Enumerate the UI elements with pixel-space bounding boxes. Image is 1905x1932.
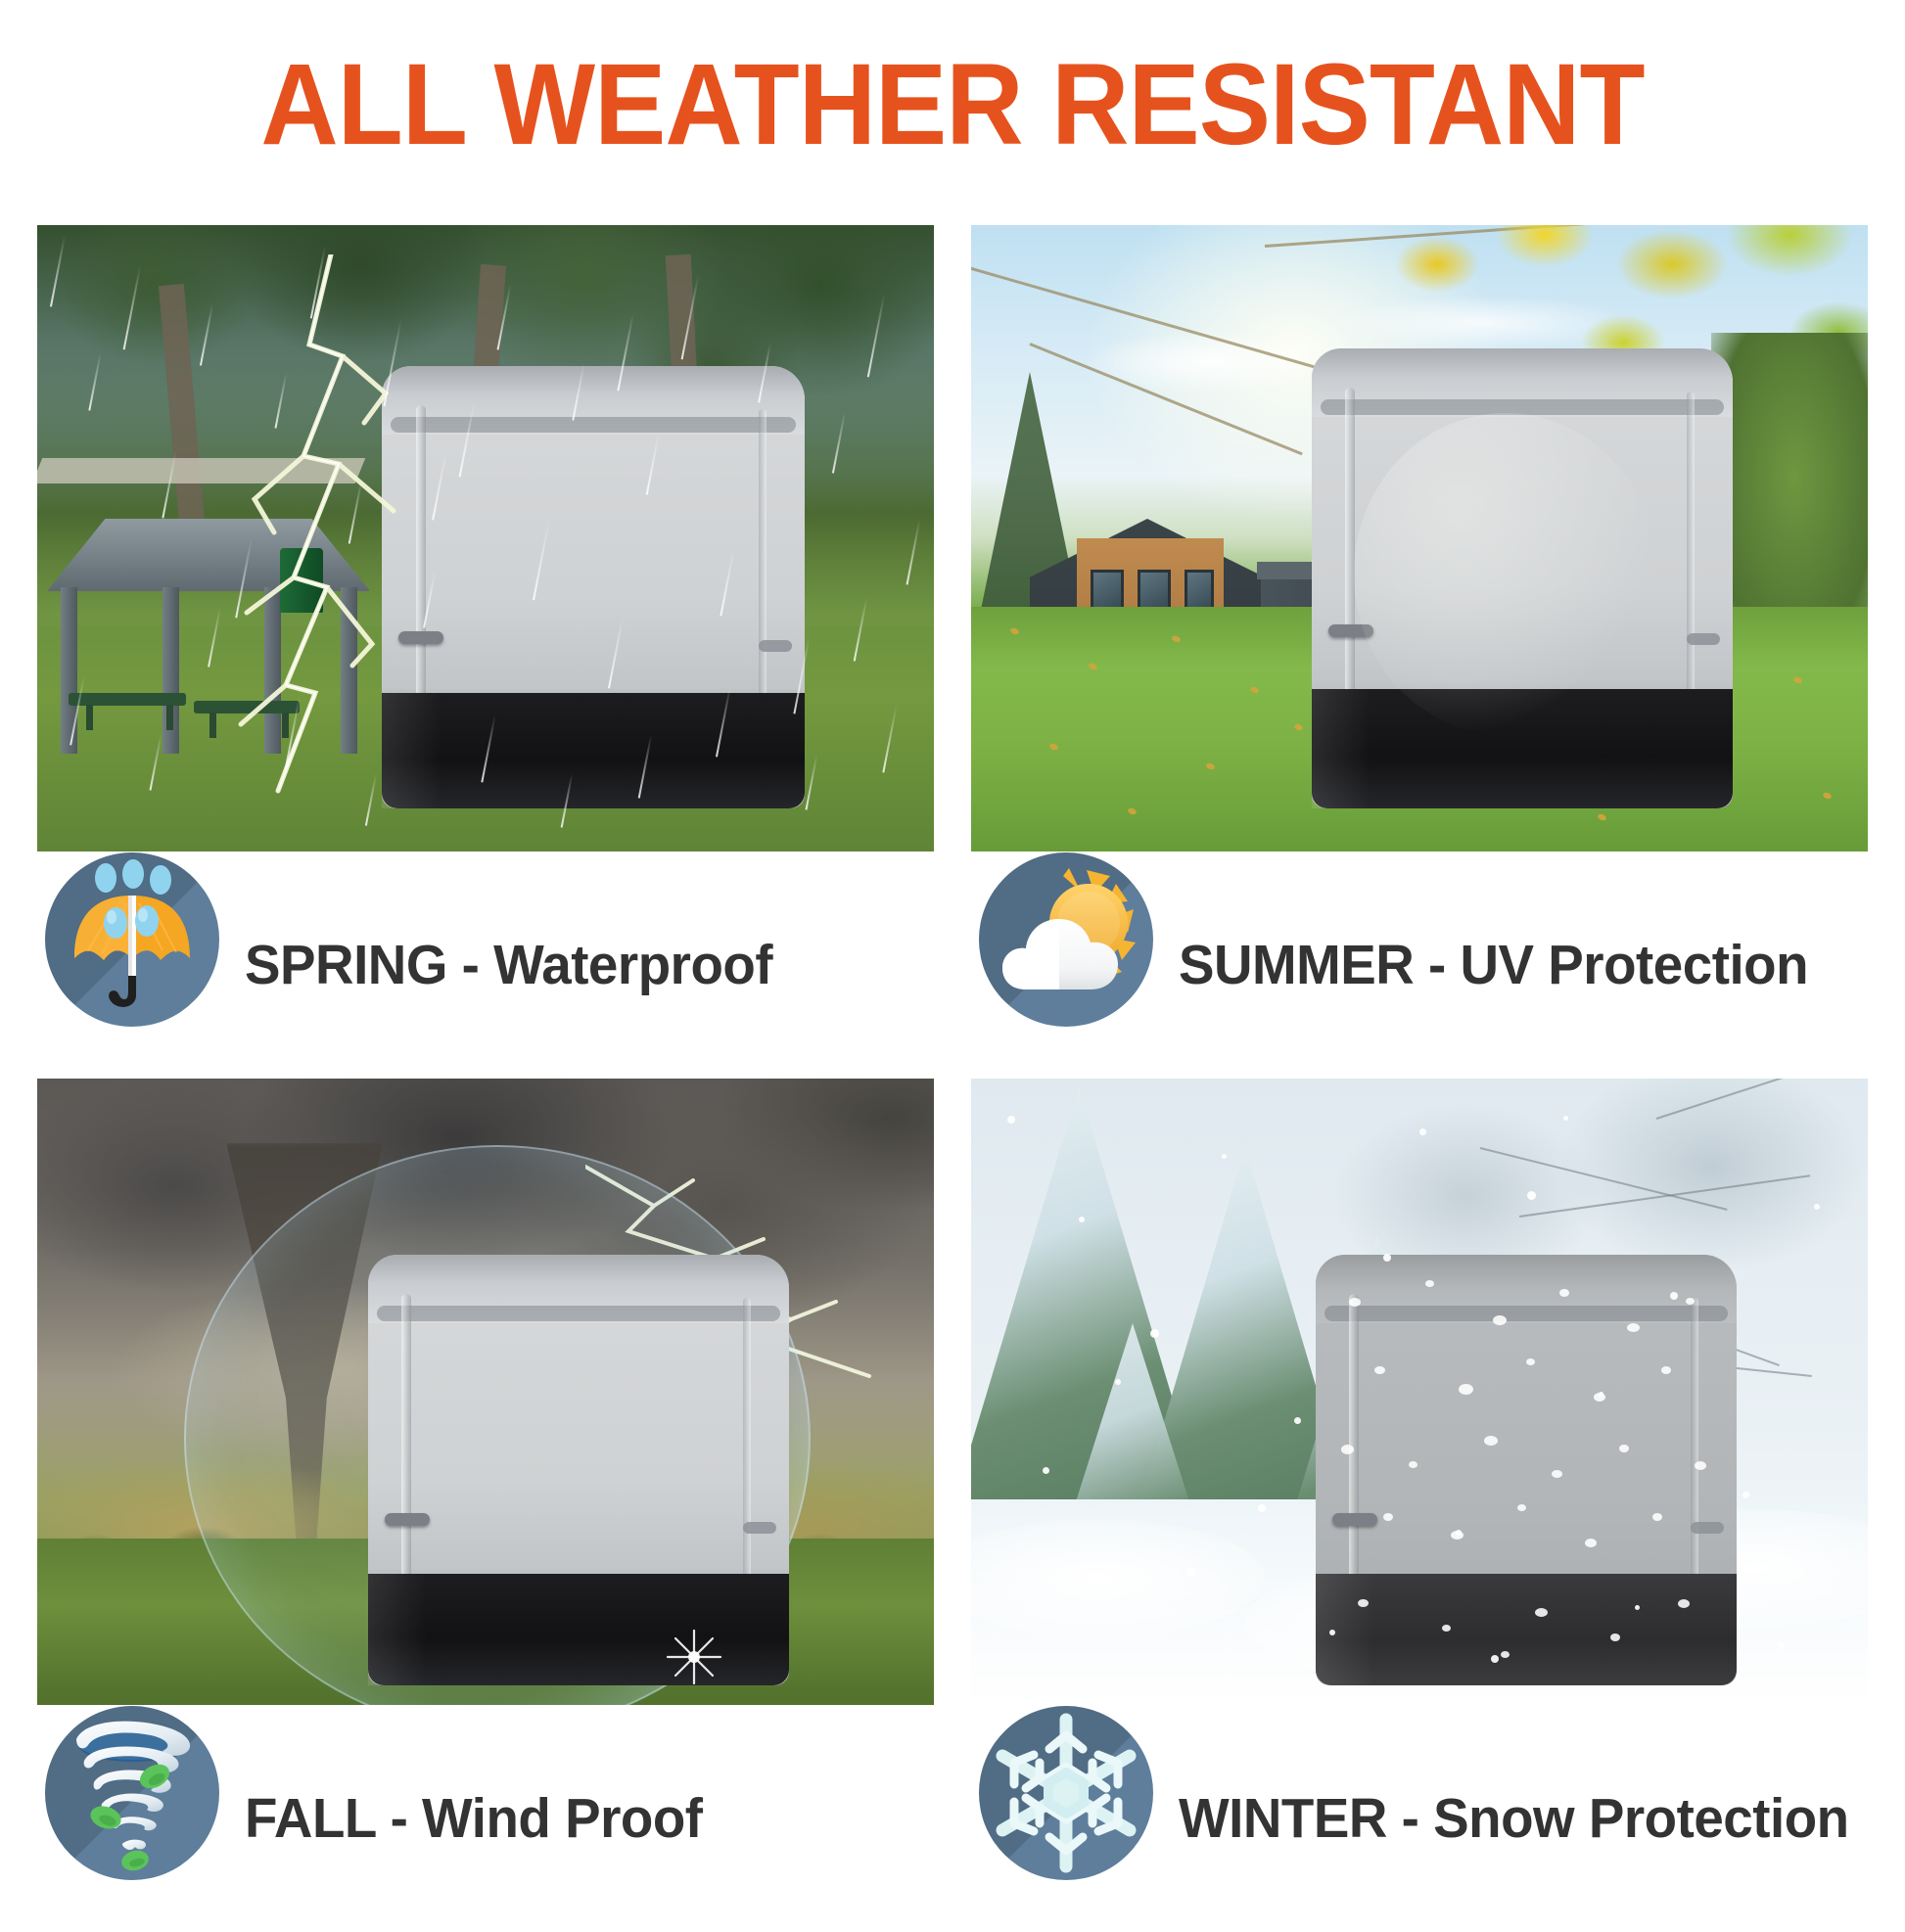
caption-summer: SUMMER - UV Protection [1179,933,1808,997]
label-row-fall: FALL - Wind Proof [37,1705,934,1932]
snowflake-icon [979,1706,1153,1880]
scene-summer-sun [971,225,1868,851]
grill-cover-product [1312,348,1733,808]
scene-winter-snow [971,1079,1868,1705]
grill-cover-product [1316,1255,1737,1685]
scene-fall-storm [37,1079,934,1705]
page-title: ALL WEATHER RESISTANT [67,45,1838,166]
label-row-summer: SUMMER - UV Protection [971,851,1868,1079]
scene-spring-rain [37,225,934,851]
label-row-winter: WINTER - Snow Protection [971,1705,1868,1932]
grill-cover-product [368,1255,789,1685]
sparkle-icon [660,1623,728,1691]
trash-bin [280,548,323,613]
panel-fall: FALL - Wind Proof [37,1079,934,1932]
panel-summer: SUMMER - UV Protection [971,225,1868,1079]
tornado-leaves-icon [45,1706,219,1880]
cover-handle [385,1513,430,1526]
caption-fall: FALL - Wind Proof [245,1786,703,1851]
panel-winter: WINTER - Snow Protection [971,1079,1868,1932]
caption-spring: SPRING - Waterproof [245,933,772,997]
grill-cover-product [382,366,805,808]
cover-handle [1332,1513,1377,1526]
panel-spring: SPRING - Waterproof [37,225,934,1079]
walk-path [37,458,365,483]
umbrella-rain-icon [45,852,219,1027]
sun-behind-cloud-icon [979,852,1153,1027]
cover-handle [398,631,443,644]
label-row-spring: SPRING - Waterproof [37,851,934,1079]
caption-winter: WINTER - Snow Protection [1179,1786,1849,1851]
season-panel-grid: SPRING - Waterproof [37,225,1870,1875]
